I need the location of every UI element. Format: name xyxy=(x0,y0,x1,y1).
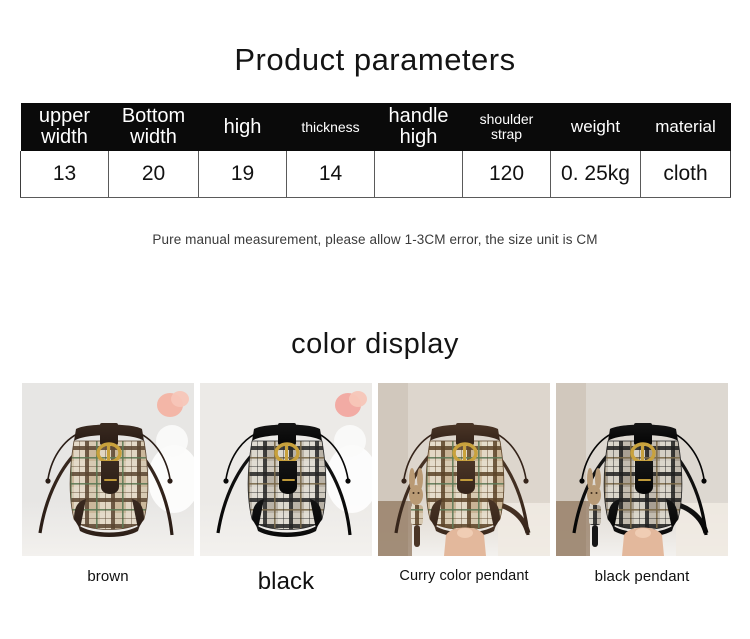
bag-hang-tag xyxy=(279,461,297,494)
bag-hang-tag xyxy=(457,461,475,494)
product-detail-page: Product parameters upperwidthBottomwidth… xyxy=(0,0,750,639)
spec-table: upperwidthBottomwidthhighthicknesshandle… xyxy=(20,103,731,198)
product-photo-black[interactable] xyxy=(200,383,372,556)
spec-value-weight: 0. 25kg xyxy=(551,151,641,197)
spec-value-handle-high xyxy=(375,151,463,197)
product-photo-svg xyxy=(200,383,372,556)
color-caption-row: brownblackCurry color pendantblack penda… xyxy=(22,568,728,596)
spec-header-line: high xyxy=(224,116,262,138)
product-photo-svg xyxy=(556,383,728,556)
table-row: 132019141200. 25kgcloth xyxy=(21,151,731,197)
bag-hang-tag xyxy=(635,461,653,494)
spec-header-line: weight xyxy=(571,117,620,136)
spec-header-line: strap xyxy=(466,127,548,142)
measurement-note: Pure manual measurement, please allow 1-… xyxy=(0,232,750,247)
color-label-curry-color-pendant: Curry color pendant xyxy=(378,568,550,596)
spec-header-line: width xyxy=(112,127,196,148)
product-photo-curry-color-pendant[interactable] xyxy=(378,383,550,556)
bag-hang-tag xyxy=(101,461,119,494)
spec-value-bottom-width: 20 xyxy=(109,151,199,197)
spec-header-high: high xyxy=(199,103,287,151)
spec-header-line: Bottom xyxy=(112,106,196,127)
color-label-brown: brown xyxy=(22,568,194,596)
spec-value-upper-width: 13 xyxy=(21,151,109,197)
product-photo-svg xyxy=(22,383,194,556)
page-title: Product parameters xyxy=(0,42,750,78)
spec-header-line: handle xyxy=(378,106,460,127)
color-gallery xyxy=(22,383,728,556)
spec-header-line: width xyxy=(24,127,106,148)
spec-header-line: shoulder xyxy=(466,112,548,127)
product-photo-black-pendant[interactable] xyxy=(556,383,728,556)
spec-table-body: 132019141200. 25kgcloth xyxy=(21,151,731,197)
spec-header-upper-width: upperwidth xyxy=(21,103,109,151)
color-label-black: black xyxy=(200,568,372,596)
spec-header-line: high xyxy=(378,127,460,148)
spec-header-material: material xyxy=(641,103,731,151)
spec-header-weight: weight xyxy=(551,103,641,151)
spec-table-container: upperwidthBottomwidthhighthicknesshandle… xyxy=(20,103,730,198)
spec-value-high: 19 xyxy=(199,151,287,197)
spec-header-line: material xyxy=(655,117,715,136)
spec-table-header-row: upperwidthBottomwidthhighthicknesshandle… xyxy=(21,103,731,151)
spec-table-header: upperwidthBottomwidthhighthicknesshandle… xyxy=(21,103,731,151)
spec-value-thickness: 14 xyxy=(287,151,375,197)
spec-header-line: upper xyxy=(24,106,106,127)
spec-value-material: cloth xyxy=(641,151,731,197)
spec-header-shoulder-strap: shoulderstrap xyxy=(463,103,551,151)
product-photo-svg xyxy=(378,383,550,556)
color-label-black-pendant: black pendant xyxy=(556,568,728,596)
spec-value-shoulder-strap: 120 xyxy=(463,151,551,197)
product-photo-brown[interactable] xyxy=(22,383,194,556)
spec-header-handle-high: handlehigh xyxy=(375,103,463,151)
spec-header-thickness: thickness xyxy=(287,103,375,151)
spec-header-bottom-width: Bottomwidth xyxy=(109,103,199,151)
spec-header-line: thickness xyxy=(301,119,359,135)
color-display-title: color display xyxy=(0,328,750,361)
